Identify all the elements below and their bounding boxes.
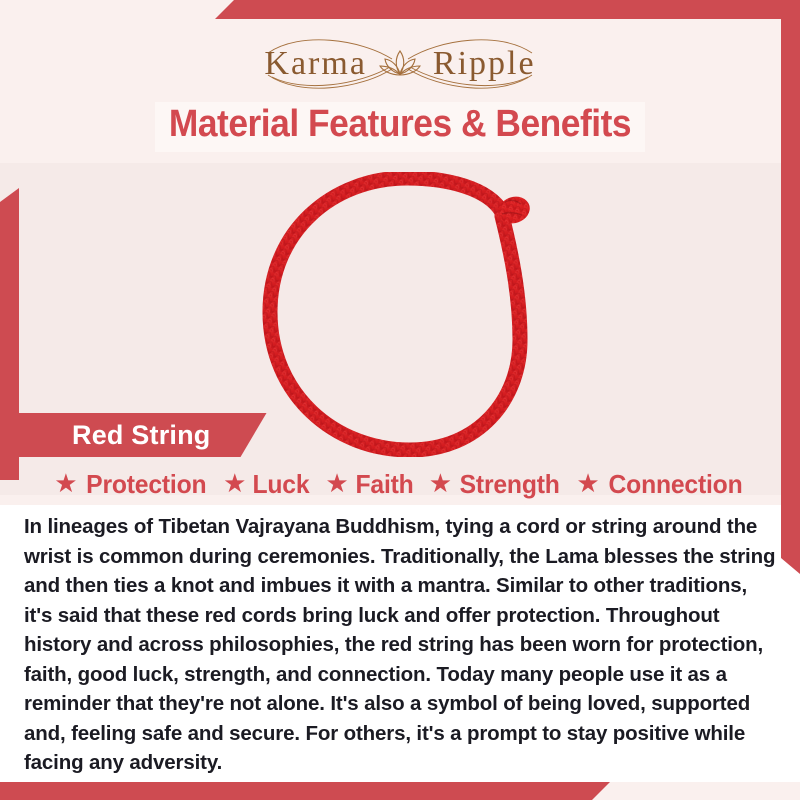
star-icon: ★ (325, 470, 348, 496)
feature-item-strength: ★ Strength (423, 469, 569, 500)
lotus-icon (379, 47, 421, 81)
decor-top-accent-bar (215, 0, 800, 19)
decor-bottom-accent-bar (0, 782, 610, 800)
brand-logo: Karma Ripple (0, 33, 800, 95)
brand-word-right: Ripple (433, 47, 536, 81)
feature-label: Protection (86, 469, 206, 500)
feature-item-luck: ★ Luck (217, 469, 317, 500)
feature-item-protection: ★ Protection (48, 469, 215, 500)
star-icon: ★ (429, 470, 452, 496)
feature-label: Strength (460, 469, 560, 500)
brand-word-left: Karma (264, 47, 367, 81)
feature-label: Luck (253, 469, 310, 500)
infographic-poster: Karma Ripple Material Features & Benefit… (0, 0, 800, 800)
material-ribbon: Red String (18, 413, 267, 457)
feature-list: ★ Protection ★ Luck ★ Faith ★ Strength ★… (0, 465, 800, 503)
description-paragraph: In lineages of Tibetan Vajrayana Buddhis… (24, 512, 776, 778)
product-image-red-string-bracelet (252, 172, 562, 457)
star-icon: ★ (576, 470, 599, 496)
decor-left-accent-bar (0, 188, 19, 480)
feature-item-faith: ★ Faith (319, 469, 420, 500)
feature-label: Faith (355, 469, 413, 500)
star-icon: ★ (54, 470, 77, 496)
star-icon: ★ (223, 470, 246, 496)
feature-item-connection: ★ Connection (570, 469, 751, 500)
feature-label: Connection (608, 469, 742, 500)
page-title: Material Features & Benefits (28, 103, 772, 146)
material-name: Red String (72, 420, 211, 451)
